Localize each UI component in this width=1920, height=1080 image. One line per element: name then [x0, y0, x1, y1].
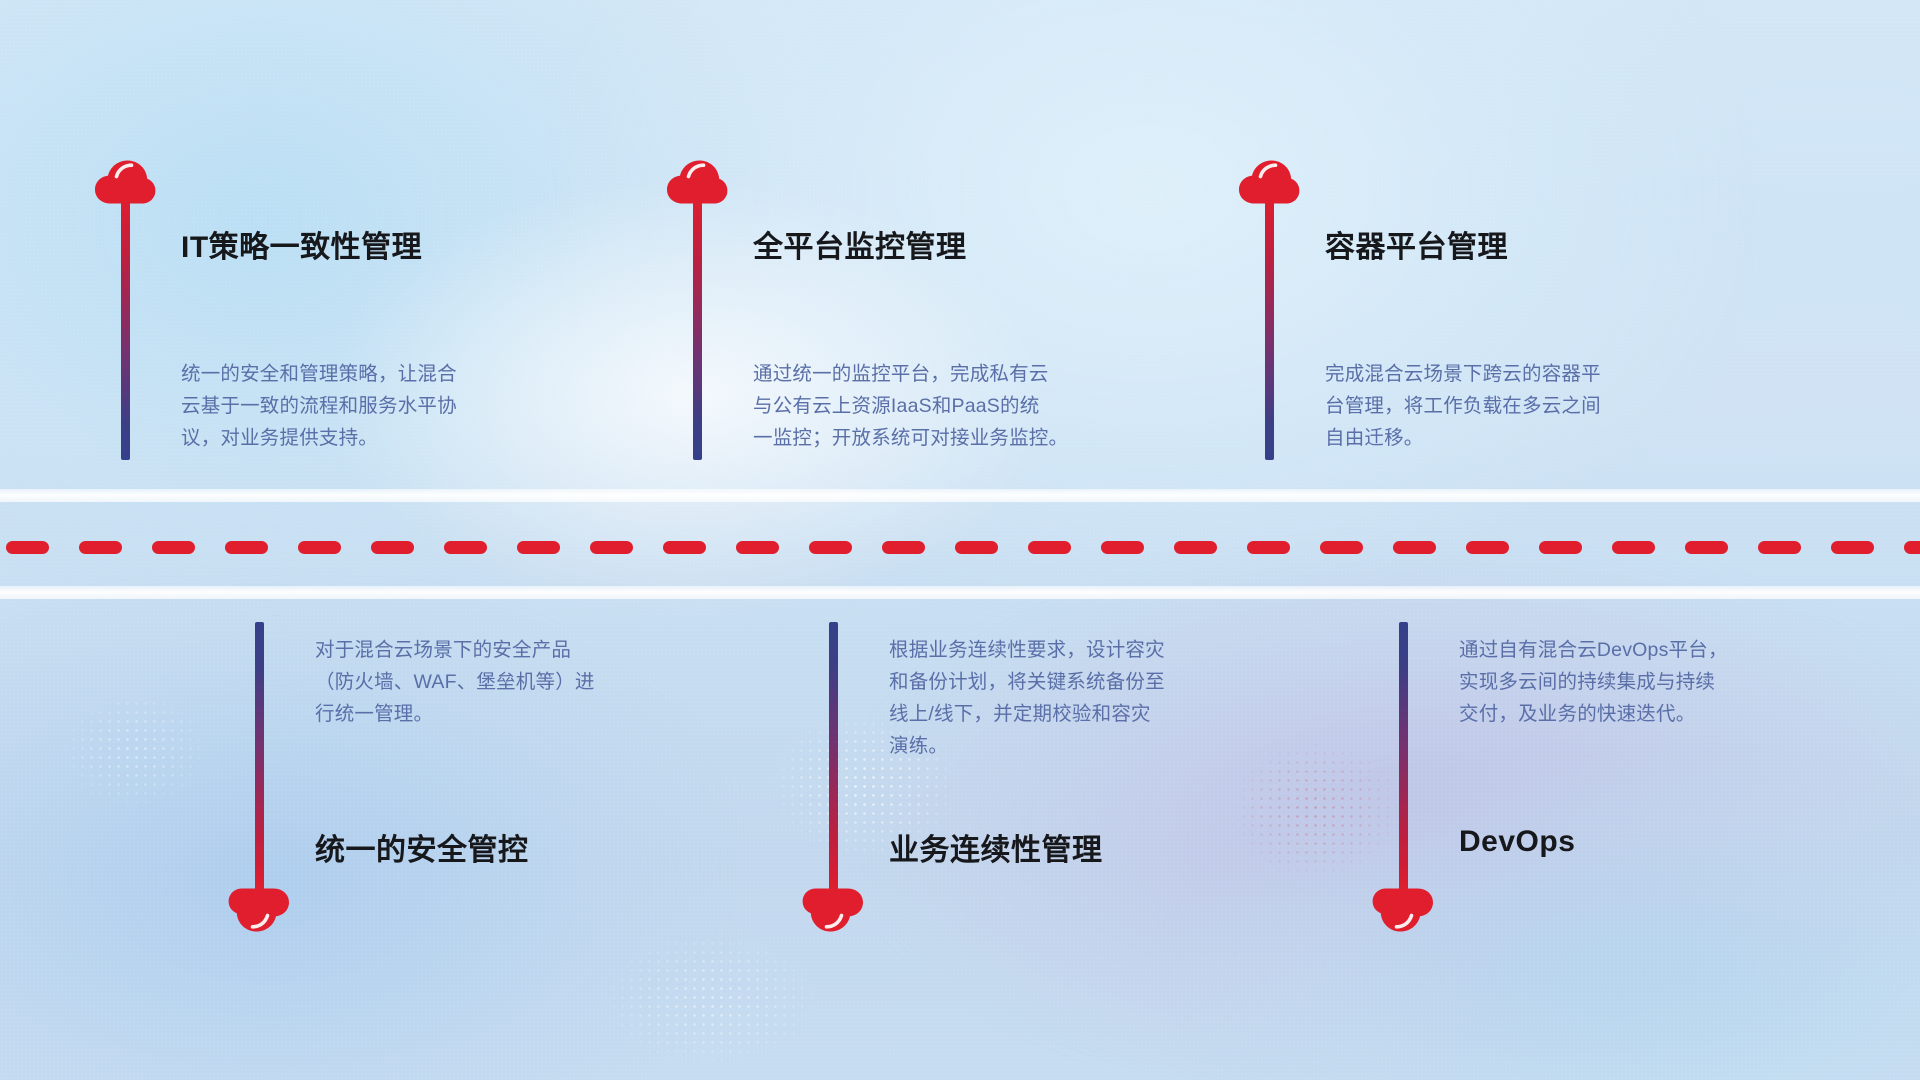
road-dash — [1174, 541, 1217, 554]
cloud-pin-icon — [228, 888, 290, 932]
desc-line: 台管理，将工作负载在多云之间 — [1325, 390, 1755, 422]
pin-stem — [1399, 622, 1408, 892]
road-dash — [590, 541, 633, 554]
item-title: IT策略一致性管理 — [181, 222, 422, 266]
road-dash — [955, 541, 998, 554]
road-dash — [1539, 541, 1582, 554]
item-title: 容器平台管理 — [1325, 222, 1508, 266]
desc-line: 根据业务连续性要求，设计容灾 — [889, 634, 1319, 666]
road-dash — [1758, 541, 1801, 554]
desc-line: 议，对业务提供支持。 — [181, 422, 611, 454]
desc-line: 与公有云上资源IaaS和PaaS的统 — [753, 390, 1213, 422]
road-dash — [809, 541, 852, 554]
desc-line: 和备份计划，将关键系统备份至 — [889, 666, 1319, 698]
desc-line: 交付，及业务的快速迭代。 — [1459, 698, 1879, 730]
road-dash — [1028, 541, 1071, 554]
item-description: 统一的安全和管理策略，让混合 云基于一致的流程和服务水平协 议，对业务提供支持。 — [181, 358, 611, 454]
cloud-pin-icon — [802, 888, 864, 932]
infographic-canvas: IT策略一致性管理 统一的安全和管理策略，让混合 云基于一致的流程和服务水平协 … — [0, 0, 1920, 1080]
road-dash — [1393, 541, 1436, 554]
road-dash — [1831, 541, 1874, 554]
desc-line: 演练。 — [889, 730, 1319, 762]
road-dash — [663, 541, 706, 554]
desc-line: 完成混合云场景下跨云的容器平 — [1325, 358, 1755, 390]
road-dash — [1904, 541, 1920, 554]
road-dash — [1685, 541, 1728, 554]
desc-line: 通过统一的监控平台，完成私有云 — [753, 358, 1213, 390]
road-dash — [444, 541, 487, 554]
item-description: 通过统一的监控平台，完成私有云 与公有云上资源IaaS和PaaS的统 一监控；开… — [753, 358, 1213, 454]
pin-stem — [255, 622, 264, 892]
pin-stem — [693, 196, 702, 460]
item-description: 完成混合云场景下跨云的容器平 台管理，将工作负载在多云之间 自由迁移。 — [1325, 358, 1755, 454]
road-center-dashed-line — [0, 540, 1920, 554]
desc-line: 线上/线下，并定期校验和容灾 — [889, 698, 1319, 730]
desc-line: 自由迁移。 — [1325, 422, 1755, 454]
desc-line: 统一的安全和管理策略，让混合 — [181, 358, 611, 390]
road-dash — [1466, 541, 1509, 554]
road-dash — [1320, 541, 1363, 554]
road-dash — [517, 541, 560, 554]
desc-line: 实现多云间的持续集成与持续 — [1459, 666, 1879, 698]
road-dash — [225, 541, 268, 554]
item-title: DevOps — [1459, 825, 1575, 859]
road-dash — [1247, 541, 1290, 554]
desc-line: 通过自有混合云DevOps平台， — [1459, 634, 1879, 666]
road-dash — [79, 541, 122, 554]
item-title: 业务连续性管理 — [889, 825, 1103, 869]
road-dash — [152, 541, 195, 554]
pin-stem — [829, 622, 838, 892]
item-title: 统一的安全管控 — [315, 825, 529, 869]
item-description: 根据业务连续性要求，设计容灾 和备份计划，将关键系统备份至 线上/线下，并定期校… — [889, 634, 1319, 762]
road-dash — [1612, 541, 1655, 554]
desc-line: 一监控；开放系统可对接业务监控。 — [753, 422, 1213, 454]
road-dash — [736, 541, 779, 554]
item-title: 全平台监控管理 — [753, 222, 967, 266]
item-description: 通过自有混合云DevOps平台， 实现多云间的持续集成与持续 交付，及业务的快速… — [1459, 634, 1879, 730]
road-band-top — [0, 489, 1920, 502]
road-dash — [371, 541, 414, 554]
desc-line: 云基于一致的流程和服务水平协 — [181, 390, 611, 422]
road-dash — [6, 541, 49, 554]
desc-line: （防火墙、WAF、堡垒机等）进 — [315, 666, 745, 698]
desc-line: 行统一管理。 — [315, 698, 745, 730]
pin-stem — [1265, 196, 1274, 460]
road-dash — [882, 541, 925, 554]
road-band-bottom — [0, 586, 1920, 599]
desc-line: 对于混合云场景下的安全产品 — [315, 634, 745, 666]
pin-stem — [121, 196, 130, 460]
item-description: 对于混合云场景下的安全产品 （防火墙、WAF、堡垒机等）进 行统一管理。 — [315, 634, 745, 730]
road-dash — [298, 541, 341, 554]
cloud-pin-icon — [1372, 888, 1434, 932]
road-dash — [1101, 541, 1144, 554]
